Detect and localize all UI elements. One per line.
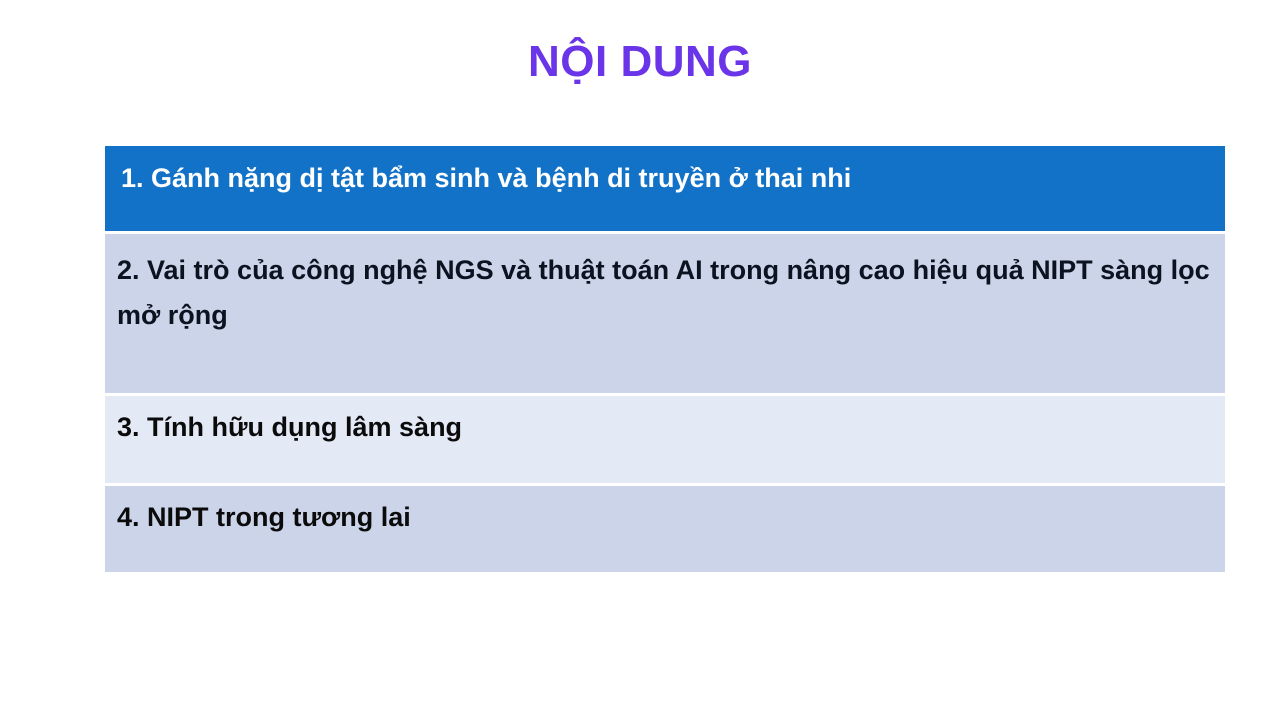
presentation-slide: NỘI DUNG 1. Gánh nặng dị tật bẩm sinh và… [0,0,1280,720]
agenda-item-2[interactable]: 2. Vai trò của công nghệ NGS và thuật to… [105,234,1225,396]
agenda-item-2-label: 2. Vai trò của công nghệ NGS và thuật to… [117,248,1217,339]
agenda-item-4[interactable]: 4. NIPT trong tương lai [105,486,1225,572]
agenda-item-3-label: 3. Tính hữu dụng lâm sàng [117,408,1215,446]
agenda-item-4-label: 4. NIPT trong tương lai [117,498,1215,536]
agenda-item-3[interactable]: 3. Tính hữu dụng lâm sàng [105,396,1225,486]
agenda-item-1[interactable]: 1. Gánh nặng dị tật bẩm sinh và bệnh di … [105,146,1225,234]
agenda-item-1-label: 1. Gánh nặng dị tật bẩm sinh và bệnh di … [121,159,1215,197]
page-title: NỘI DUNG [0,38,1280,86]
agenda-list: 1. Gánh nặng dị tật bẩm sinh và bệnh di … [105,146,1225,572]
